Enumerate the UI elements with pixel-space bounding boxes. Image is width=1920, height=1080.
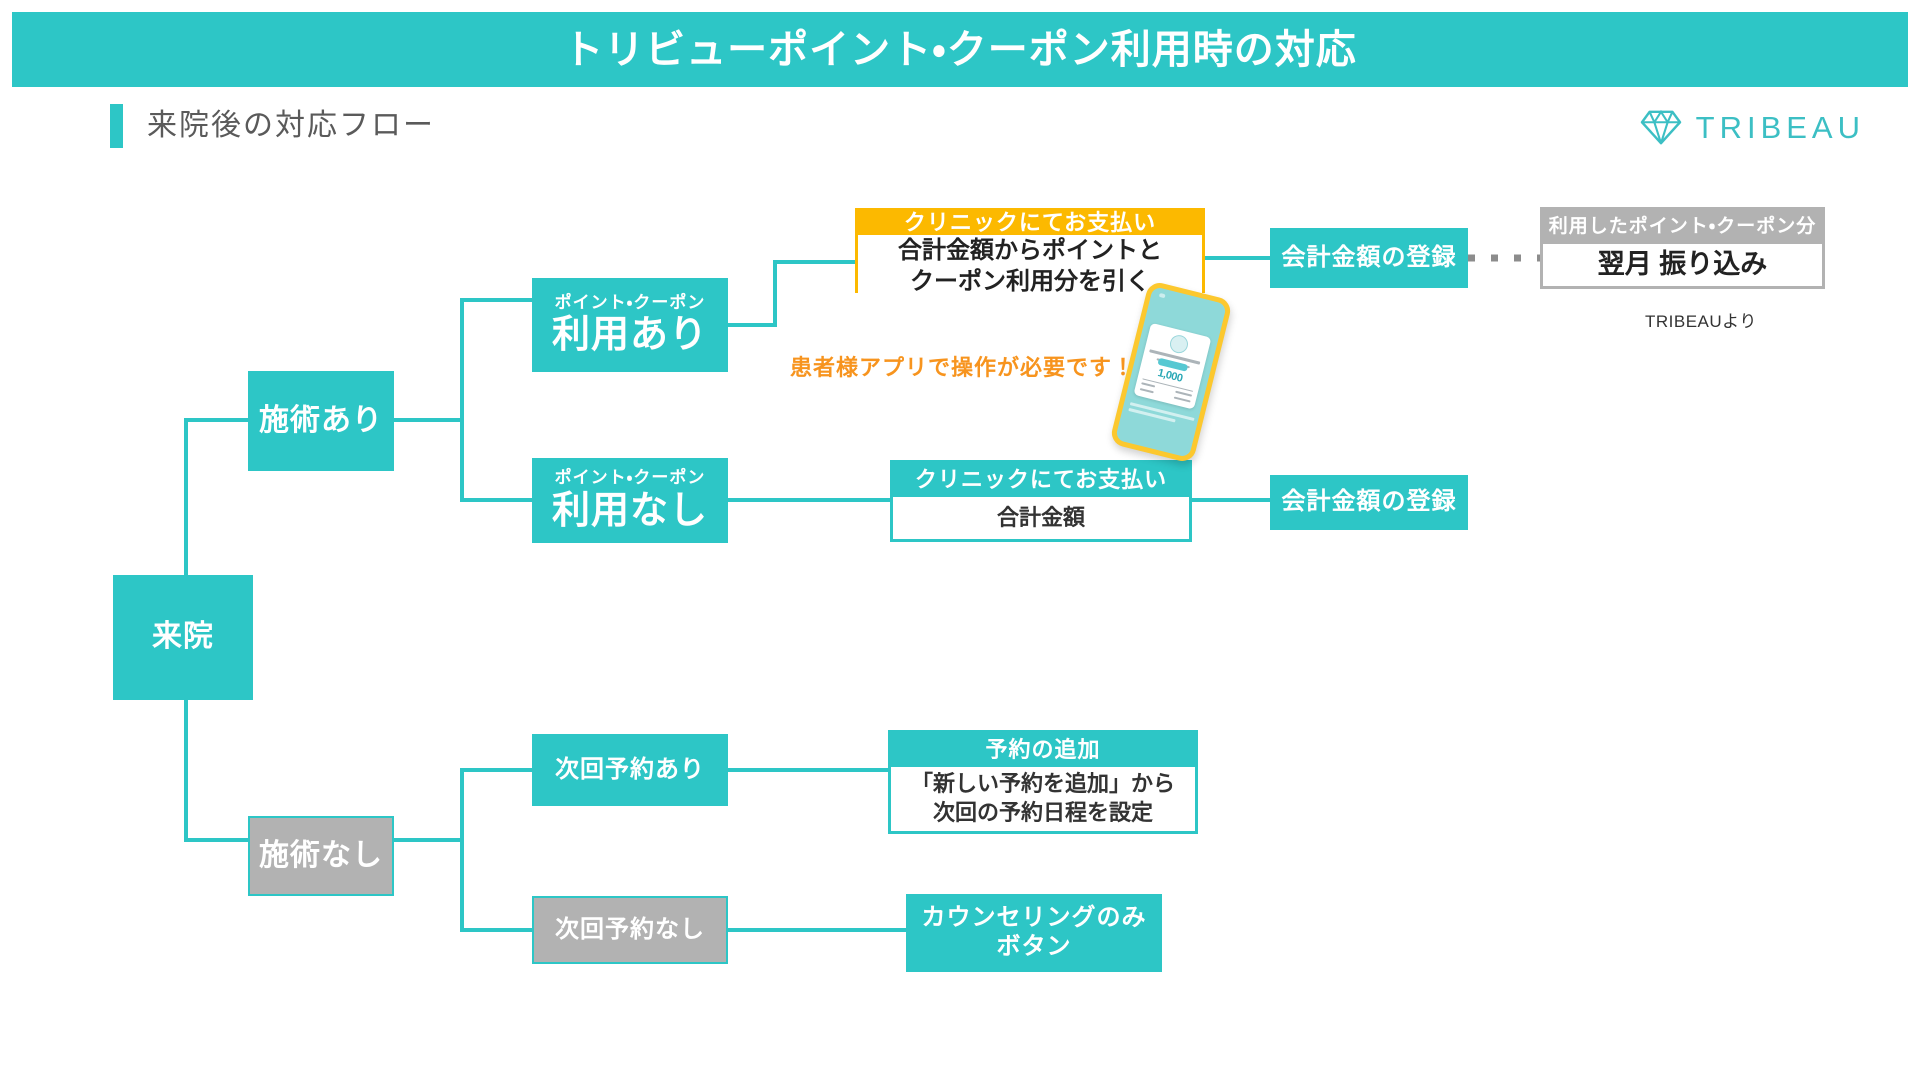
flow-card-next-month-transfer[interactable]: 利用したポイント・クーポン分 翌月 振り込み xyxy=(1540,207,1825,289)
flow-node-label: 利用なし xyxy=(552,491,708,533)
flow-card-add-reservation[interactable]: 予約の追加 「新しい予約を追加」から 次回の予約日程を設定 xyxy=(888,730,1198,834)
phone-text-line xyxy=(1174,396,1191,402)
flow-node-points-used[interactable]: ポイント・クーポン 利用あり xyxy=(532,278,728,372)
flow-node-root[interactable]: 来院 xyxy=(113,575,253,700)
flow-node-label: 次回予約なし xyxy=(555,916,705,945)
flow-node-branch-no-treatment[interactable]: 施術なし xyxy=(248,816,394,896)
flow-node-label-line1: カウンセリングのみ xyxy=(922,904,1147,933)
phone-notch xyxy=(1159,293,1166,298)
phone-coupon-card: 1,000 xyxy=(1133,323,1211,410)
flow-card-pay-at-clinic-discounted[interactable]: クリニックにてお支払い 合計金額からポイントと クーポン利用分を引く xyxy=(855,208,1205,293)
flow-node-label: 施術なし xyxy=(259,839,383,874)
flow-node-label: 会計金額の登録 xyxy=(1282,244,1457,273)
flow-node-caption: ポイント・クーポン xyxy=(555,293,706,313)
flow-node-next-booking-no[interactable]: 次回予約なし xyxy=(532,896,728,964)
flow-node-label: 利用あり xyxy=(552,315,708,357)
flow-node-branch-with-treatment[interactable]: 施術あり xyxy=(248,371,394,471)
flow-node-next-booking-yes[interactable]: 次回予約あり xyxy=(532,734,728,806)
slide-canvas: トリビューポイント・クーポン利用時の対応 来院後の対応フロー TRIBEAU xyxy=(0,0,1920,1080)
warning-annotation: 患者様アプリで操作が必要です！ xyxy=(790,357,1135,379)
flow-card-header: クリニックにてお支払い xyxy=(893,463,1189,497)
flow-node-register-amount-bottom[interactable]: 会計金額の登録 xyxy=(1270,475,1468,530)
flow-diagram: 来院 施術あり 施術なし ポイント・クーポン 利用あり ポイント・クーポン 利用… xyxy=(0,0,1920,1080)
flow-node-caption: ポイント・クーポン xyxy=(555,468,706,488)
smartphone-app-preview-icon: 1,000 xyxy=(1109,280,1233,464)
phone-text-line xyxy=(1141,382,1155,387)
flow-node-label: 来院 xyxy=(152,620,214,655)
flow-node-points-not-used[interactable]: ポイント・クーポン 利用なし xyxy=(532,458,728,543)
phone-text-line xyxy=(1140,388,1154,393)
flow-node-label: 会計金額の登録 xyxy=(1282,488,1457,517)
flow-card-header: 予約の追加 xyxy=(891,733,1195,767)
flow-node-label: 次回予約あり xyxy=(555,756,705,785)
flow-node-label-line2: ボタン xyxy=(997,933,1072,962)
flow-card-header: クリニックにてお支払い xyxy=(858,211,1202,235)
flow-node-register-amount-top[interactable]: 会計金額の登録 xyxy=(1270,228,1468,288)
flow-card-header: 利用したポイント・クーポン分 xyxy=(1543,210,1822,244)
flow-card-pay-at-clinic-total[interactable]: クリニックにてお支払い 合計金額 xyxy=(890,460,1192,542)
phone-text-line xyxy=(1175,391,1192,397)
flow-node-counseling-only-button[interactable]: カウンセリングのみ ボタン xyxy=(906,894,1162,972)
flow-card-body: 翌月 振り込み xyxy=(1543,244,1822,286)
flow-card-body: 合計金額 xyxy=(893,497,1189,539)
flow-card-body: 「新しい予約を追加」から 次回の予約日程を設定 xyxy=(891,767,1195,831)
source-note: TRIBEAUより xyxy=(1645,313,1757,330)
phone-coupon-badge-icon xyxy=(1168,333,1190,355)
flow-node-label: 施術あり xyxy=(259,404,383,439)
